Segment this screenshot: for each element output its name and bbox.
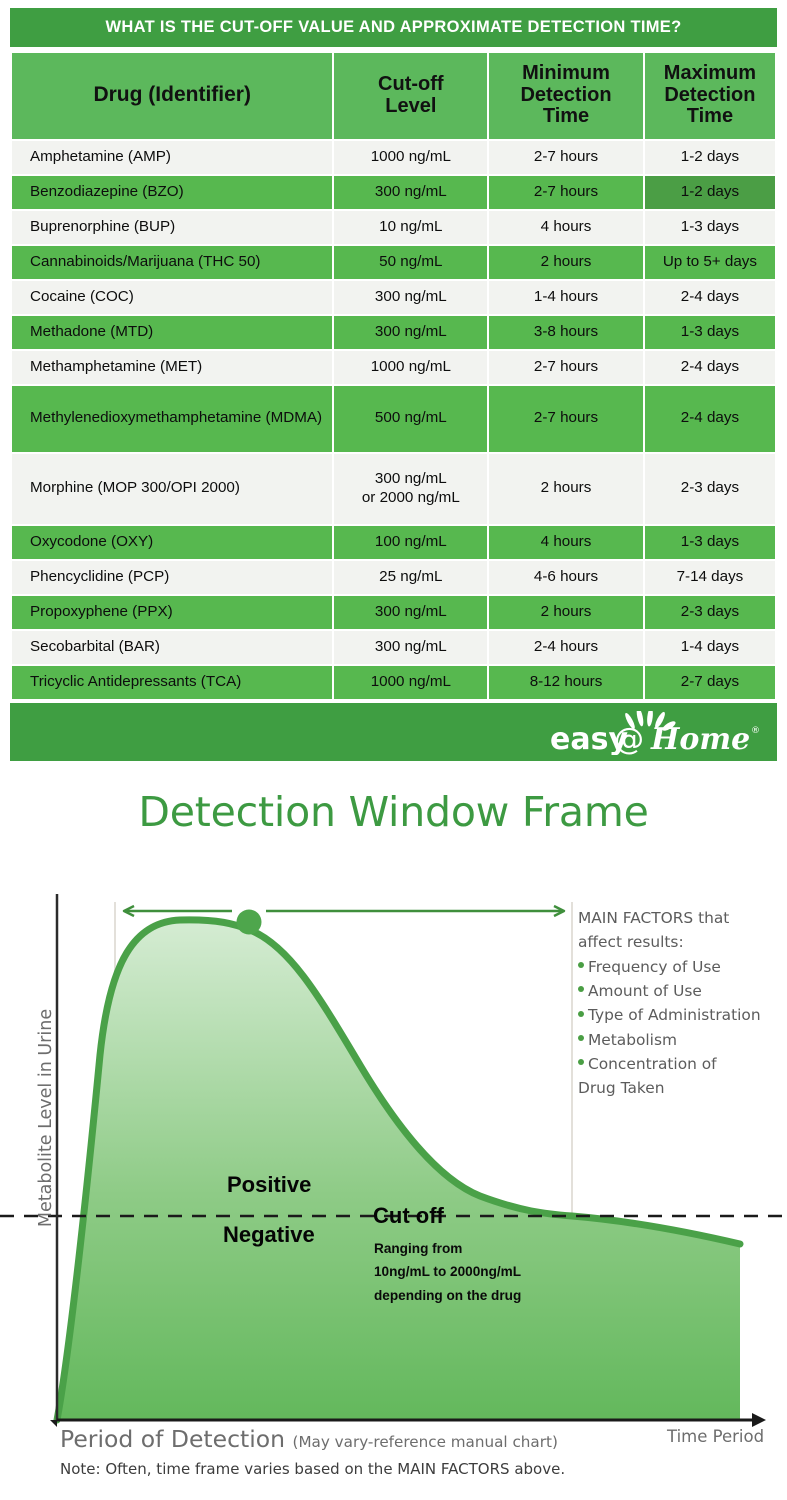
table-header-row: Drug (Identifier) Cut-off Level Minimum … — [12, 53, 775, 139]
detection-window-arrow-left — [124, 906, 232, 916]
detection-window-arrow-right — [266, 906, 564, 916]
cell-min-detection-time: 4 hours — [489, 211, 643, 244]
cell-drug-name: Phencyclidine (PCP) — [12, 561, 332, 594]
table-row: Cocaine (COC)300 ng/mL1-4 hours2-4 days — [12, 281, 775, 314]
cell-min-detection-time: 4-6 hours — [489, 561, 643, 594]
main-factors-item-label: Frequency of Use — [588, 958, 721, 976]
cell-max-detection-time: 2-7 days — [645, 666, 775, 699]
cell-cutoff-level: 300 ng/mL — [334, 281, 487, 314]
cell-cutoff-level: 100 ng/mL — [334, 526, 487, 559]
logo-text-home: Home — [650, 722, 750, 755]
cell-max-detection-time: 1-4 days — [645, 631, 775, 664]
cell-cutoff-level: 500 ng/mL — [334, 386, 487, 452]
bullet-dot-icon — [578, 986, 584, 992]
cell-drug-name: Benzodiazepine (BZO) — [12, 176, 332, 209]
cell-drug-name: Methylenedioxymethamphetamine (MDMA) — [12, 386, 332, 452]
cell-min-detection-time: 2 hours — [489, 596, 643, 629]
main-factors-legend: MAIN FACTORS that affect results: Freque… — [578, 906, 786, 1101]
main-factors-item-label: Concentration of — [588, 1055, 717, 1073]
bullet-dot-icon — [578, 1035, 584, 1041]
cell-max-detection-time: 2-3 days — [645, 596, 775, 629]
cell-max-detection-time: 2-4 days — [645, 386, 775, 452]
table-row: Phencyclidine (PCP)25 ng/mL4-6 hours7-14… — [12, 561, 775, 594]
x-axis-origin-marker — [50, 1420, 57, 1427]
main-factors-item-label: Metabolism — [588, 1031, 677, 1049]
table-row: Tricyclic Antidepressants (TCA)1000 ng/m… — [12, 666, 775, 699]
cell-drug-name: Amphetamine (AMP) — [12, 141, 332, 174]
table-row: Amphetamine (AMP)1000 ng/mL2-7 hours1-2 … — [12, 141, 775, 174]
cell-min-detection-time: 2-4 hours — [489, 631, 643, 664]
cell-max-detection-time: 1-3 days — [645, 211, 775, 244]
cell-max-detection-time: Up to 5+ days — [645, 246, 775, 279]
cell-max-detection-time: 7-14 days — [645, 561, 775, 594]
table-row: Benzodiazepine (BZO)300 ng/mL2-7 hours1-… — [12, 176, 775, 209]
cell-cutoff-level: 1000 ng/mL — [334, 141, 487, 174]
column-header-max-line3: Time — [687, 105, 733, 127]
infographic-page: WHAT IS THE CUT-OFF VALUE AND APPROXIMAT… — [0, 0, 787, 1500]
detection-window-chart: Metabolite Level in Urine MAIN FACTORS t… — [0, 880, 787, 1500]
cell-cutoff-level: 50 ng/mL — [334, 246, 487, 279]
cell-min-detection-time: 4 hours — [489, 526, 643, 559]
column-header-min-line1: Minimum — [522, 62, 610, 84]
main-factors-item: Frequency of Use — [578, 955, 786, 979]
cell-drug-name: Oxycodone (OXY) — [12, 526, 332, 559]
cell-max-detection-time: 1-3 days — [645, 316, 775, 349]
bullet-dot-icon — [578, 1011, 584, 1017]
cell-min-detection-time: 2-7 hours — [489, 386, 643, 452]
chart-title: Detection Window Frame — [0, 788, 787, 836]
cell-cutoff-level: 300 ng/mL — [334, 631, 487, 664]
cell-drug-name: Secobarbital (BAR) — [12, 631, 332, 664]
brand-logo-bar: easy @ Home ® — [10, 703, 777, 761]
cell-max-detection-time: 2-4 days — [645, 281, 775, 314]
column-header-max-line2: Detection — [664, 84, 755, 106]
cell-min-detection-time: 8-12 hours — [489, 666, 643, 699]
cell-min-detection-time: 2 hours — [489, 454, 643, 524]
cell-drug-name: Propoxyphene (PPX) — [12, 596, 332, 629]
cell-cutoff-line1: 300 ng/mL — [375, 470, 447, 487]
cutoff-detection-table: Drug (Identifier) Cut-off Level Minimum … — [10, 51, 777, 701]
cell-min-detection-time: 2-7 hours — [489, 176, 643, 209]
table-body: Amphetamine (AMP)1000 ng/mL2-7 hours1-2 … — [12, 141, 775, 699]
cell-cutoff-line2: or 2000 ng/mL — [362, 489, 460, 506]
cell-cutoff-level: 1000 ng/mL — [334, 666, 487, 699]
x-axis-arrowhead — [752, 1413, 766, 1427]
cell-max-detection-time: 1-2 days — [645, 176, 775, 209]
cell-drug-name: Morphine (MOP 300/OPI 2000) — [12, 454, 332, 524]
cell-drug-name: Tricyclic Antidepressants (TCA) — [12, 666, 332, 699]
easy-at-home-logo: easy @ Home ® — [548, 711, 763, 755]
cutoff-sublabel-line: 10ng/mL to 2000ng/mL — [374, 1260, 521, 1283]
main-factors-item-wrap: Drug Taken — [578, 1076, 786, 1100]
period-of-detection-label: Period of Detection (May vary-reference … — [60, 1425, 558, 1453]
cutoff-sublabel-line: Ranging from — [374, 1237, 521, 1260]
main-factors-item-label: Amount of Use — [588, 982, 702, 1000]
table-row: Methylenedioxymethamphetamine (MDMA)500 … — [12, 386, 775, 452]
period-of-detection-sub: (May vary-reference manual chart) — [293, 1433, 558, 1451]
main-factors-list: Frequency of UseAmount of UseType of Adm… — [578, 955, 786, 1077]
cell-drug-name: Methamphetamine (MET) — [12, 351, 332, 384]
table-row: Cannabinoids/Marijuana (THC 50)50 ng/mL2… — [12, 246, 775, 279]
cell-cutoff-level: 25 ng/mL — [334, 561, 487, 594]
cell-drug-name: Cocaine (COC) — [12, 281, 332, 314]
cell-drug-name: Cannabinoids/Marijuana (THC 50) — [12, 246, 332, 279]
cell-cutoff-level: 300 ng/mL — [334, 176, 487, 209]
table-row: Secobarbital (BAR)300 ng/mL2-4 hours1-4 … — [12, 631, 775, 664]
table-row: Morphine (MOP 300/OPI 2000)300 ng/mLor 2… — [12, 454, 775, 524]
main-factors-item: Type of Administration — [578, 1003, 786, 1027]
main-factors-item: Concentration of — [578, 1052, 786, 1076]
column-header-min-line2: Detection — [520, 84, 611, 106]
cutoff-sublabel-line: depending on the drug — [374, 1284, 521, 1307]
cutoff-sublabel: Ranging from10ng/mL to 2000ng/mLdependin… — [374, 1237, 521, 1307]
table-row: Oxycodone (OXY)100 ng/mL4 hours1-3 days — [12, 526, 775, 559]
column-header-min-detection-time: Minimum Detection Time — [489, 53, 643, 139]
column-header-cutoff-line2: Level — [385, 95, 436, 117]
cell-cutoff-level: 1000 ng/mL — [334, 351, 487, 384]
column-header-max-detection-time: Maximum Detection Time — [645, 53, 775, 139]
cell-cutoff-level: 300 ng/mLor 2000 ng/mL — [334, 454, 487, 524]
cell-max-detection-time: 1-3 days — [645, 526, 775, 559]
cell-cutoff-level: 300 ng/mL — [334, 316, 487, 349]
cell-max-detection-time: 2-4 days — [645, 351, 775, 384]
bullet-dot-icon — [578, 962, 584, 968]
cell-max-detection-time: 1-2 days — [645, 141, 775, 174]
cell-min-detection-time: 2-7 hours — [489, 141, 643, 174]
main-factors-item: Amount of Use — [578, 979, 786, 1003]
column-header-max-line1: Maximum — [664, 62, 756, 84]
main-factors-item-label: Type of Administration — [588, 1006, 761, 1024]
table-row: Methadone (MTD)300 ng/mL3-8 hours1-3 day… — [12, 316, 775, 349]
table-header: Drug (Identifier) Cut-off Level Minimum … — [12, 53, 775, 139]
main-factors-heading-line2: affect results: — [578, 930, 786, 954]
table-banner-title: WHAT IS THE CUT-OFF VALUE AND APPROXIMAT… — [10, 8, 777, 47]
column-header-drug: Drug (Identifier) — [12, 53, 332, 139]
cell-min-detection-time: 1-4 hours — [489, 281, 643, 314]
cell-cutoff-level: 10 ng/mL — [334, 211, 487, 244]
x-axis-label: Time Period — [667, 1427, 764, 1446]
table-row: Buprenorphine (BUP)10 ng/mL4 hours1-3 da… — [12, 211, 775, 244]
cell-min-detection-time: 2 hours — [489, 246, 643, 279]
peak-marker-dot — [237, 910, 262, 935]
chart-note: Note: Often, time frame varies based on … — [60, 1460, 565, 1478]
table-row: Propoxyphene (PPX)300 ng/mL2 hours2-3 da… — [12, 596, 775, 629]
cell-max-detection-time: 2-3 days — [645, 454, 775, 524]
column-header-cutoff-level: Cut-off Level — [334, 53, 487, 139]
main-factors-item: Metabolism — [578, 1028, 786, 1052]
column-header-cutoff-line1: Cut-off — [378, 73, 444, 95]
logo-registered-mark: ® — [751, 726, 760, 736]
column-header-min-line3: Time — [543, 105, 589, 127]
negative-region-label: Negative — [223, 1222, 315, 1248]
cell-min-detection-time: 3-8 hours — [489, 316, 643, 349]
main-factors-heading-line1: MAIN FACTORS that — [578, 906, 786, 930]
cutoff-table-section: WHAT IS THE CUT-OFF VALUE AND APPROXIMAT… — [10, 8, 777, 761]
period-of-detection-main: Period of Detection — [60, 1425, 285, 1453]
bullet-dot-icon — [578, 1059, 584, 1065]
cell-cutoff-level: 300 ng/mL — [334, 596, 487, 629]
positive-region-label: Positive — [227, 1172, 311, 1198]
table-row: Methamphetamine (MET)1000 ng/mL2-7 hours… — [12, 351, 775, 384]
y-axis-label: Metabolite Level in Urine — [36, 968, 56, 1268]
logo-at-symbol: @ — [614, 722, 644, 755]
cell-drug-name: Buprenorphine (BUP) — [12, 211, 332, 244]
cell-drug-name: Methadone (MTD) — [12, 316, 332, 349]
cutoff-label: Cut off — [373, 1203, 444, 1229]
cell-min-detection-time: 2-7 hours — [489, 351, 643, 384]
